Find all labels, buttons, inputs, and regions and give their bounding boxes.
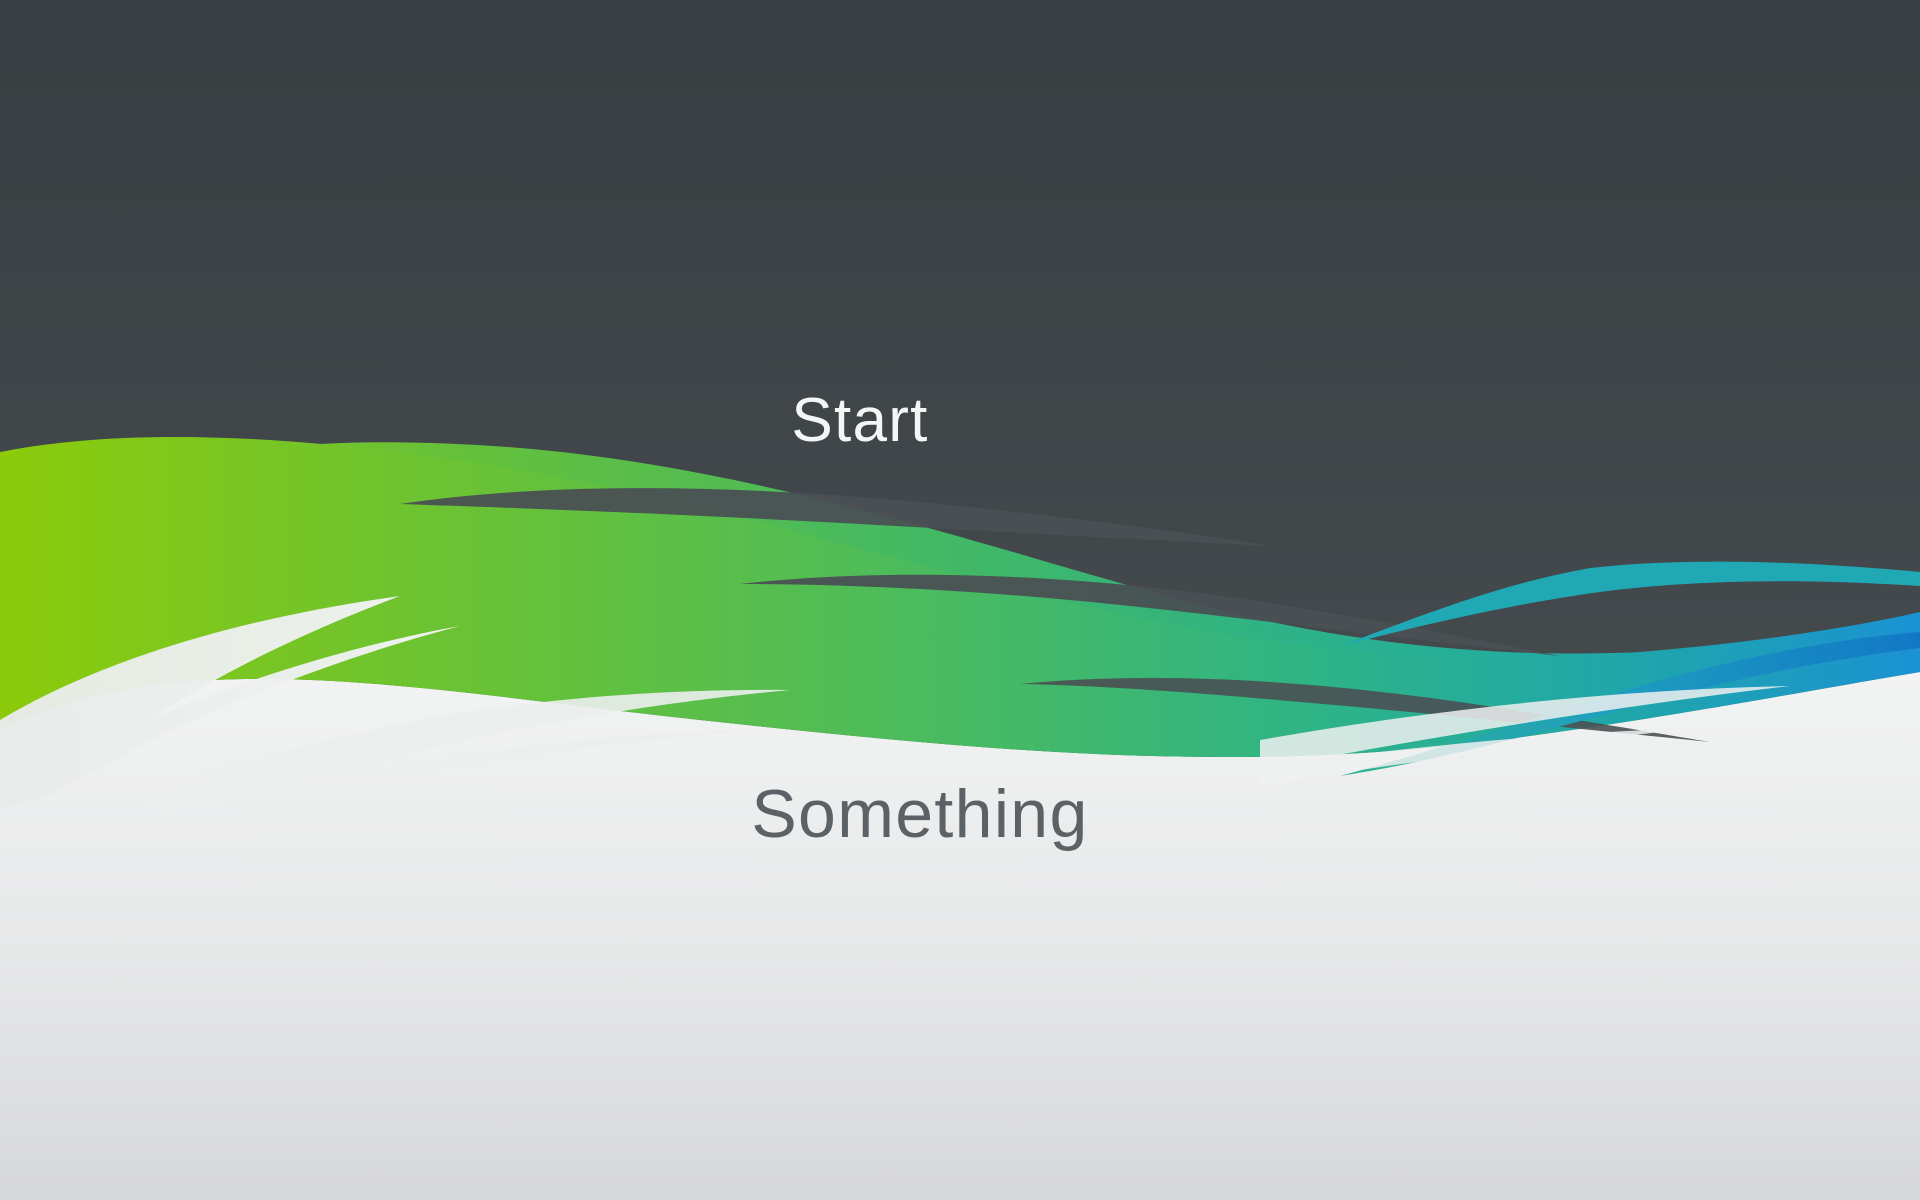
headline-something: Something	[0, 775, 1880, 853]
banner-canvas: Start Something	[0, 0, 1920, 1200]
headline-start: Start	[0, 385, 1820, 456]
wave-ribbon-icon	[0, 0, 1920, 1200]
